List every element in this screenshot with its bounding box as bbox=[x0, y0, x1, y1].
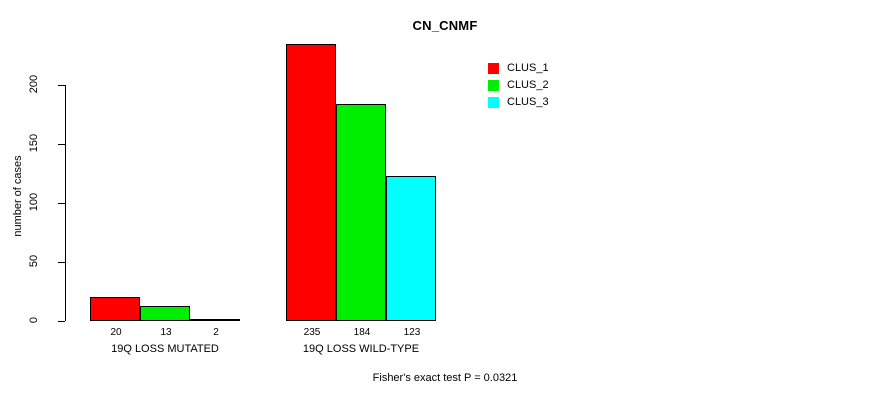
y-tick-mark bbox=[58, 203, 65, 204]
page-title: CN_CNMF bbox=[0, 18, 890, 33]
bar-clus_3 bbox=[190, 319, 240, 321]
y-tick-mark bbox=[58, 321, 65, 322]
y-axis-line bbox=[65, 85, 66, 321]
bar-clus_2 bbox=[140, 306, 190, 321]
chart-canvas: CN_CNMF number of cases 050100150200 201… bbox=[0, 0, 890, 400]
legend-item-clus_2: CLUS_2 bbox=[488, 77, 549, 94]
legend-swatch-icon bbox=[488, 97, 499, 108]
y-tick-label: 200 bbox=[28, 64, 40, 104]
y-tick-label: 0 bbox=[28, 300, 40, 340]
bar-clus_1 bbox=[286, 44, 336, 321]
legend: CLUS_1CLUS_2CLUS_3 bbox=[488, 60, 549, 111]
y-tick-mark bbox=[58, 262, 65, 263]
y-tick-mark bbox=[58, 85, 65, 86]
legend-label: CLUS_2 bbox=[507, 80, 549, 91]
bar-clus_3 bbox=[386, 176, 436, 321]
bar-value-label: 2 bbox=[190, 327, 242, 338]
y-tick-label: 150 bbox=[28, 123, 40, 163]
y-tick-mark bbox=[58, 144, 65, 145]
bar-value-label: 184 bbox=[336, 327, 388, 338]
legend-label: CLUS_3 bbox=[507, 97, 549, 108]
footer-annotation: Fisher's exact test P = 0.0321 bbox=[0, 372, 890, 384]
bar-value-label: 20 bbox=[90, 327, 142, 338]
bar-value-label: 235 bbox=[286, 327, 338, 338]
y-tick-label: 100 bbox=[28, 182, 40, 222]
y-tick-label: 50 bbox=[28, 241, 40, 281]
legend-item-clus_3: CLUS_3 bbox=[488, 94, 549, 111]
legend-swatch-icon bbox=[488, 80, 499, 91]
bar-clus_1 bbox=[90, 297, 140, 321]
group-axis-label: 19Q LOSS WILD-TYPE bbox=[241, 343, 481, 355]
bar-value-label: 123 bbox=[386, 327, 438, 338]
bar-value-label: 13 bbox=[140, 327, 192, 338]
y-axis-label: number of cases bbox=[12, 126, 24, 266]
legend-item-clus_1: CLUS_1 bbox=[488, 60, 549, 77]
bar-clus_2 bbox=[336, 104, 386, 321]
legend-label: CLUS_1 bbox=[507, 63, 549, 74]
legend-swatch-icon bbox=[488, 63, 499, 74]
